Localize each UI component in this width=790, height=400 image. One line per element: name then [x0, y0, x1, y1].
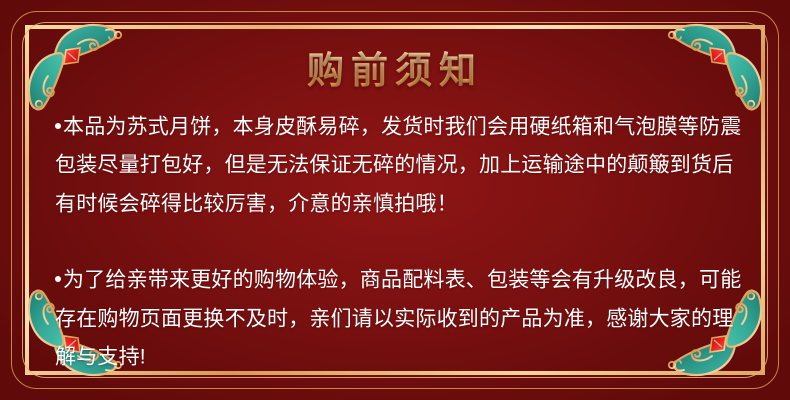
title-container: 购前须知 [0, 40, 790, 94]
notice-paragraph: 本品为苏式月饼，本身皮酥易碎，发货时我们会用硬纸箱和气泡膜等防震包装尽量打包好，… [55, 108, 742, 223]
notice-paragraph-text: 为了给亲带来更好的购物体验，商品配料表、包装等会有升级改良，可能存在购物页面更换… [55, 269, 741, 369]
purchase-notice-banner: 购前须知 本品为苏式月饼，本身皮酥易碎，发货时我们会用硬纸箱和气泡膜等防震包装尽… [0, 0, 790, 400]
notice-paragraph: 为了给亲带来更好的购物体验，商品配料表、包装等会有升级改良，可能存在购物页面更换… [55, 261, 742, 376]
notice-paragraph-text: 本品为苏式月饼，本身皮酥易碎，发货时我们会用硬纸箱和气泡膜等防震包装尽量打包好，… [55, 115, 741, 215]
page-title: 购前须知 [307, 40, 483, 94]
bullet-icon [55, 123, 61, 129]
bullet-icon [55, 276, 61, 282]
notice-body: 本品为苏式月饼，本身皮酥易碎，发货时我们会用硬纸箱和气泡膜等防震包装尽量打包好，… [55, 108, 742, 377]
